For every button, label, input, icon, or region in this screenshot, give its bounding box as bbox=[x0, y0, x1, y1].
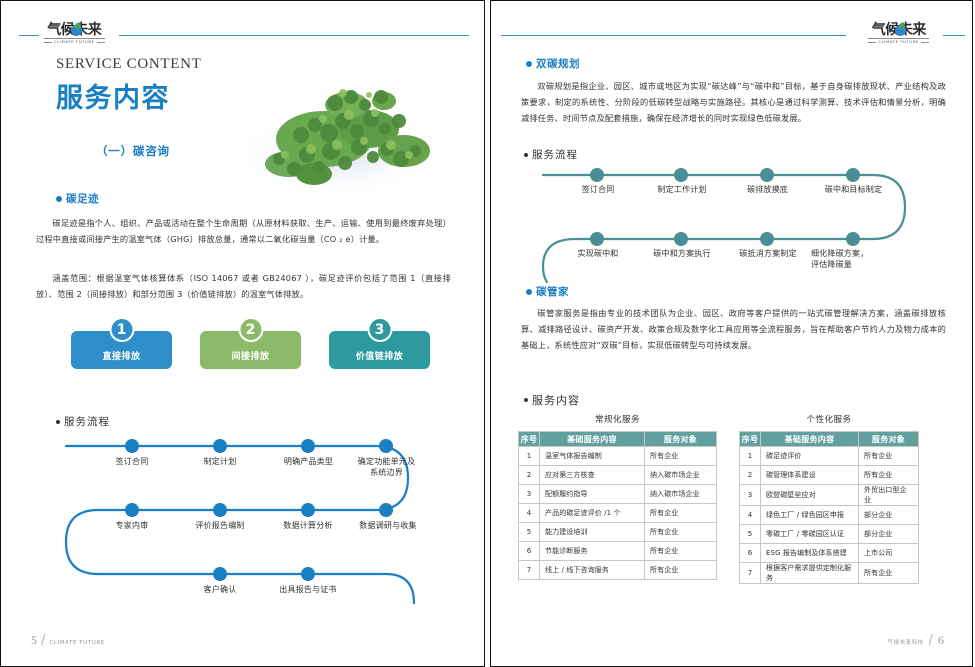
table-header-row: 序号 基础服务内容 服务对象 bbox=[740, 432, 919, 447]
cell-index: 6 bbox=[519, 542, 540, 561]
right-flow-step-8: 细化降碳方案， 评估降碳量 bbox=[811, 249, 897, 271]
bullet-dot-icon bbox=[56, 420, 60, 424]
page-title-cn: 服务内容 bbox=[56, 76, 170, 115]
right-flow-step-2: 制定工作计划 bbox=[637, 185, 727, 196]
left-flow-step-8: 数据调研与收集 bbox=[344, 521, 432, 532]
cell-index: 5 bbox=[740, 525, 761, 544]
scope-card-1[interactable]: 1 直接排放 bbox=[71, 331, 172, 369]
left-flow-step-10: 出具报告与证书 bbox=[262, 585, 354, 596]
scope-card-2[interactable]: 2 间接排放 bbox=[200, 331, 301, 369]
footer-slash: / bbox=[929, 633, 933, 648]
cell-index: 6 bbox=[740, 544, 761, 563]
cell-index: 2 bbox=[740, 466, 761, 485]
left-flow-heading: 服务流程 bbox=[56, 414, 110, 429]
bullet-dot-icon bbox=[526, 289, 532, 295]
cell-target: 纳入碳市场企业 bbox=[645, 485, 717, 504]
cell-target: 部分企业 bbox=[859, 506, 919, 525]
table-row: 3配额履约指导纳入碳市场企业 bbox=[519, 485, 717, 504]
service-content-heading-label: 服务内容 bbox=[532, 392, 580, 408]
cell-content: 应对第三方核查 bbox=[540, 466, 645, 485]
dual-carbon-plan-heading-label: 双碳规划 bbox=[536, 56, 580, 71]
right-flow-step-6: 碳中和方案执行 bbox=[637, 249, 727, 260]
table-header-row: 序号 基础服务内容 服务对象 bbox=[519, 432, 717, 447]
cell-target: 所有企业 bbox=[645, 504, 717, 523]
custom-service-table: 序号 基础服务内容 服务对象 1碳足迹评价所有企业 2碳管理体系建设所有企业 3… bbox=[739, 431, 919, 584]
table-row: 5能力建设培训所有企业 bbox=[519, 523, 717, 542]
carbon-steward-text: 碳管家服务是指由专业的技术团队为企业、园区、政府等客户提供的一站式碳管理解决方案… bbox=[521, 306, 946, 354]
th-index: 序号 bbox=[519, 432, 540, 447]
cell-target: 部分企业 bbox=[859, 525, 919, 544]
cell-target: 所有企业 bbox=[859, 466, 919, 485]
logo-text-en: CLIMATE FUTURE bbox=[868, 38, 929, 44]
right-page-footer: 气候未来科技 / 6 bbox=[888, 633, 944, 648]
table-row: 1温室气体报告编制所有企业 bbox=[519, 447, 717, 466]
cell-content: 绿色工厂 / 绿色园区申报 bbox=[761, 506, 859, 525]
cell-target: 所有企业 bbox=[645, 523, 717, 542]
cell-content: ESG 报告编制及体系搭建 bbox=[761, 544, 859, 563]
cell-index: 4 bbox=[519, 504, 540, 523]
left-page-number: 5 bbox=[31, 633, 37, 648]
right-flow-step-4: 碳中和目标制定 bbox=[807, 185, 900, 196]
th-index: 序号 bbox=[740, 432, 761, 447]
scope-card-3-label: 价值链排放 bbox=[356, 349, 404, 362]
table-row: 4产品的碳足迹评价 /1 个所有企业 bbox=[519, 504, 717, 523]
table-row: 3欧盟碳壁垒应对外贸出口型企业 bbox=[740, 485, 919, 506]
bullet-dot-icon bbox=[524, 153, 528, 157]
standard-service-table: 序号 基础服务内容 服务对象 1温室气体报告编制所有企业 2应对第三方核查纳入碳… bbox=[518, 431, 717, 580]
cell-index: 4 bbox=[740, 506, 761, 525]
left-flow-step-9: 客户确认 bbox=[180, 585, 260, 596]
left-page-footer: 5 / CLIMATE FUTURE bbox=[31, 633, 105, 648]
cell-index: 2 bbox=[519, 466, 540, 485]
right-flow-step-1: 签订合同 bbox=[559, 185, 637, 196]
carbon-footprint-text-2: 涵盖范围：根据温室气体核算体系（ISO 14067 或者 GB24067 ），碳… bbox=[36, 271, 451, 303]
table-row: 6ESG 报告编制及体系搭建上市公司 bbox=[740, 544, 919, 563]
cell-target: 所有企业 bbox=[645, 447, 717, 466]
cell-content: 线上 / 线下咨询服务 bbox=[540, 561, 645, 580]
right-flow-step-3: 碳排放摸底 bbox=[725, 185, 810, 196]
th-target: 服务对象 bbox=[859, 432, 919, 447]
cell-content: 配额履约指导 bbox=[540, 485, 645, 504]
dual-carbon-text: 双碳规划是指企业、园区、城市或地区为实现“碳达峰”与“碳中和”目标，基于自身碳排… bbox=[521, 79, 946, 127]
custom-service-block: 个性化服务 序号 基础服务内容 服务对象 1碳足迹评价所有企业 2碳管理体系建设… bbox=[739, 413, 919, 584]
left-flow-step-7: 数据计算分析 bbox=[264, 521, 352, 532]
carbon-footprint-paragraph-1: 碳足迹是指个人、组织、产品或活动在整个生命周期（从原材料获取、生产、运输、使用到… bbox=[36, 216, 451, 248]
cell-target: 所有企业 bbox=[645, 542, 717, 561]
table-row: 1碳足迹评价所有企业 bbox=[740, 447, 919, 466]
cell-content: 零碳工厂 / 零碳园区认证 bbox=[761, 525, 859, 544]
cell-content: 欧盟碳壁垒应对 bbox=[761, 485, 859, 506]
carbon-footprint-paragraph-2: 涵盖范围：根据温室气体核算体系（ISO 14067 或者 GB24067 ），碳… bbox=[36, 271, 451, 303]
scope-card-3-number: 3 bbox=[367, 317, 392, 342]
right-flow-step-5: 实现碳中和 bbox=[559, 249, 637, 260]
right-flow-step-7: 碳抵消方案制定 bbox=[723, 249, 813, 260]
right-service-flow-diagram: 签订合同 制定工作计划 碳排放摸底 碳中和目标制定 实现碳中和 碳中和方案执行 … bbox=[533, 164, 933, 284]
cell-content: 碳足迹评价 bbox=[761, 447, 859, 466]
service-tables: 常规化服务 序号 基础服务内容 服务对象 1温室气体报告编制所有企业 2应对第三… bbox=[518, 413, 919, 584]
forest-island-illustration bbox=[219, 59, 469, 209]
left-footer-text: CLIMATE FUTURE bbox=[49, 640, 104, 646]
left-flow-step-5: 专家内审 bbox=[92, 521, 172, 532]
carbon-steward-heading: 碳管家 bbox=[526, 284, 569, 299]
table-row: 6节能诊断服务所有企业 bbox=[519, 542, 717, 561]
table-row: 4绿色工厂 / 绿色园区申报部分企业 bbox=[740, 506, 919, 525]
table-row: 5零碳工厂 / 零碳园区认证部分企业 bbox=[740, 525, 919, 544]
left-flow-heading-label: 服务流程 bbox=[64, 414, 110, 429]
right-footer-text: 气候未来科技 bbox=[888, 638, 924, 646]
section-label: （一）碳咨询 bbox=[96, 143, 170, 159]
cell-index: 5 bbox=[519, 523, 540, 542]
table-row: 7根据客户需求提供定制化服务所有企业 bbox=[740, 563, 919, 584]
logo-left: 气候未来 CLIMATE FUTURE bbox=[39, 23, 110, 44]
emission-scope-cards: 1 直接排放 2 间接排放 3 价值链排放 bbox=[71, 331, 430, 369]
cell-target: 纳入碳市场企业 bbox=[645, 466, 717, 485]
logo-text-en: CLIMATE FUTURE bbox=[44, 38, 105, 44]
right-page: 气候未来 CLIMATE FUTURE 双碳规划 双碳规划是指企业、园区、城市或… bbox=[490, 0, 973, 667]
scope-card-3[interactable]: 3 价值链排放 bbox=[329, 331, 430, 369]
bullet-dot-icon bbox=[524, 398, 528, 402]
cell-index: 7 bbox=[519, 561, 540, 580]
left-service-flow-diagram: 签订合同 制定计划 明确产品类型 确定功能单元及 系统边界 专家内审 评价报告编… bbox=[56, 433, 446, 623]
left-flow-step-1: 签订合同 bbox=[92, 457, 172, 468]
table-row: 7线上 / 线下咨询服务所有企业 bbox=[519, 561, 717, 580]
logo-right: 气候未来 CLIMATE FUTURE bbox=[863, 23, 934, 44]
scope-card-2-label: 间接排放 bbox=[231, 349, 269, 362]
cell-index: 1 bbox=[519, 447, 540, 466]
cell-index: 3 bbox=[519, 485, 540, 504]
cell-target: 外贸出口型企业 bbox=[859, 485, 919, 506]
cell-target: 所有企业 bbox=[859, 563, 919, 584]
page-title-en: SERVICE CONTENT bbox=[56, 56, 202, 73]
service-content-heading: 服务内容 bbox=[524, 392, 580, 408]
left-flow-step-2: 制定计划 bbox=[180, 457, 260, 468]
cell-content: 能力建设培训 bbox=[540, 523, 645, 542]
cell-content: 温室气体报告编制 bbox=[540, 447, 645, 466]
right-flow-heading: 服务流程 bbox=[524, 147, 578, 162]
scope-card-1-label: 直接排放 bbox=[102, 349, 140, 362]
cell-content: 根据客户需求提供定制化服务 bbox=[761, 563, 859, 584]
right-page-number: 6 bbox=[938, 633, 944, 648]
left-page: 气候未来 CLIMATE FUTURE SERVICE CONTENT 服务内容… bbox=[0, 0, 485, 667]
th-content: 基础服务内容 bbox=[540, 432, 645, 447]
cell-content: 节能诊断服务 bbox=[540, 542, 645, 561]
cell-target: 所有企业 bbox=[645, 561, 717, 580]
cell-content: 碳管理体系建设 bbox=[761, 466, 859, 485]
globe-leaf-icon bbox=[71, 24, 84, 37]
dual-carbon-plan-heading: 双碳规划 bbox=[526, 56, 580, 71]
th-target: 服务对象 bbox=[645, 432, 717, 447]
footer-slash: / bbox=[41, 633, 45, 648]
table-row: 2碳管理体系建设所有企业 bbox=[740, 466, 919, 485]
carbon-steward-heading-label: 碳管家 bbox=[536, 284, 569, 299]
scope-card-1-number: 1 bbox=[109, 317, 134, 342]
cell-index: 3 bbox=[740, 485, 761, 506]
carbon-steward-paragraph: 碳管家服务是指由专业的技术团队为企业、园区、政府等客户提供的一站式碳管理解决方案… bbox=[521, 306, 946, 354]
carbon-footprint-text-1: 碳足迹是指个人、组织、产品或活动在整个生命周期（从原材料获取、生产、运输、使用到… bbox=[36, 216, 451, 248]
left-flow-step-4: 确定功能单元及 系统边界 bbox=[344, 457, 429, 479]
table-row: 2应对第三方核查纳入碳市场企业 bbox=[519, 466, 717, 485]
cell-target: 所有企业 bbox=[859, 447, 919, 466]
carbon-footprint-heading: 碳足迹 bbox=[56, 191, 99, 206]
bullet-dot-icon bbox=[56, 196, 62, 202]
right-flow-heading-label: 服务流程 bbox=[532, 147, 578, 162]
globe-leaf-icon bbox=[895, 24, 908, 37]
left-flow-step-3: 明确产品类型 bbox=[266, 457, 351, 468]
cell-target: 上市公司 bbox=[859, 544, 919, 563]
carbon-footprint-heading-label: 碳足迹 bbox=[66, 191, 99, 206]
th-content: 基础服务内容 bbox=[761, 432, 859, 447]
custom-service-caption: 个性化服务 bbox=[739, 413, 919, 425]
bullet-dot-icon bbox=[526, 61, 532, 67]
standard-service-block: 常规化服务 序号 基础服务内容 服务对象 1温室气体报告编制所有企业 2应对第三… bbox=[518, 413, 717, 584]
scope-card-2-number: 2 bbox=[238, 317, 263, 342]
left-flow-step-6: 评价报告编制 bbox=[176, 521, 264, 532]
standard-service-caption: 常规化服务 bbox=[518, 413, 717, 425]
cell-index: 7 bbox=[740, 563, 761, 584]
brochure-spread: 气候未来 CLIMATE FUTURE SERVICE CONTENT 服务内容… bbox=[0, 0, 975, 667]
cell-content: 产品的碳足迹评价 /1 个 bbox=[540, 504, 645, 523]
cell-index: 1 bbox=[740, 447, 761, 466]
dual-carbon-paragraph: 双碳规划是指企业、园区、城市或地区为实现“碳达峰”与“碳中和”目标，基于自身碳排… bbox=[521, 79, 946, 127]
